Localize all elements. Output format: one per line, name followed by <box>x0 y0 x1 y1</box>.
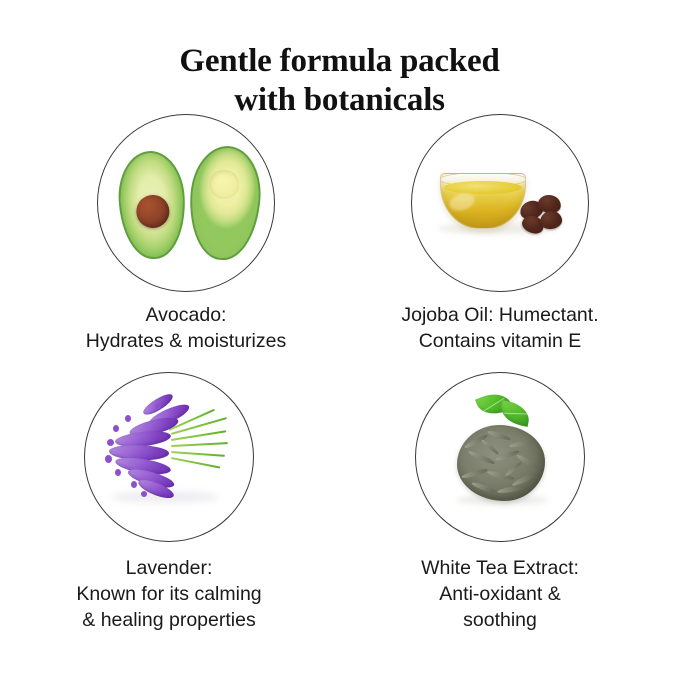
dried-tea-curl <box>487 429 511 441</box>
jojoba-oil-caption-line-2: Contains vitamin E <box>345 329 655 355</box>
avocado-icon <box>98 115 274 291</box>
jojoba-oil-caption-line-1: Jojoba Oil: Humectant. <box>345 303 655 329</box>
dried-tea-leaves-pile <box>457 425 545 501</box>
dried-tea-curl <box>497 485 524 495</box>
avocado-pit <box>136 194 171 229</box>
avocado-half-without-pit <box>186 144 264 263</box>
jojoba-oil-caption: Jojoba Oil: Humectant. Contains vitamin … <box>345 303 655 355</box>
avocado-caption-line-1: Avocado: <box>31 303 341 329</box>
lavender-stem <box>171 451 225 457</box>
jojoba-oil-surface <box>444 181 522 194</box>
ingredient-item-jojoba-oil: Jojoba Oil: Humectant. Contains vitamin … <box>345 114 655 355</box>
jojoba-bowl-highlight <box>447 190 477 213</box>
lavender-bud <box>107 439 114 446</box>
jojoba-oil-circle-frame <box>411 114 589 292</box>
white-tea-circle-frame <box>415 372 585 542</box>
jojoba-seed <box>539 210 563 231</box>
lavender-bud <box>125 415 131 422</box>
lavender-caption-line-2: Known for its calming <box>14 582 324 608</box>
fresh-tea-leaf <box>498 400 532 427</box>
avocado-caption-line-2: Hydrates & moisturizes <box>31 329 341 355</box>
lavender-bud <box>155 403 161 409</box>
lavender-icon <box>85 373 253 541</box>
lavender-bud <box>113 425 119 432</box>
lavender-caption-line-1: Lavender: <box>14 556 324 582</box>
lavender-caption-line-3: & healing properties <box>14 608 324 634</box>
avocado-caption: Avocado: Hydrates & moisturizes <box>31 303 341 355</box>
lavender-bud <box>131 481 137 488</box>
white-tea-extract-icon <box>416 373 584 541</box>
ingredient-item-white-tea-extract: White Tea Extract: Anti-oxidant & soothi… <box>345 372 655 634</box>
tea-leaf-vein <box>504 413 527 415</box>
lavender-bud <box>141 491 147 497</box>
dried-tea-curl <box>511 472 537 488</box>
dried-tea-curl <box>461 467 488 479</box>
lavender-circle-frame <box>84 372 254 542</box>
dried-tea-curl <box>509 438 536 449</box>
ingredient-item-lavender: Lavender: Known for its calming & healin… <box>14 372 324 634</box>
lavender-bud <box>105 455 112 463</box>
page-title-line-1: Gentle formula packed <box>0 42 679 81</box>
white-tea-caption-line-2: Anti-oxidant & <box>345 582 655 608</box>
dried-tea-curl <box>480 438 499 455</box>
lavender-bud <box>115 469 121 476</box>
lavender-stem <box>171 442 228 447</box>
avocado-circle-frame <box>97 114 275 292</box>
jojoba-oil-icon <box>412 115 588 291</box>
avocado-half-with-pit <box>116 149 188 260</box>
white-tea-caption-line-1: White Tea Extract: <box>345 556 655 582</box>
dried-tea-curl <box>467 449 496 465</box>
botanicals-infographic: Gentle formula packed with botanicals Av… <box>0 0 679 679</box>
lavender-caption: Lavender: Known for its calming & healin… <box>14 556 324 634</box>
dried-tea-curl <box>471 481 496 494</box>
jojoba-oil-bowl <box>440 173 526 229</box>
white-tea-caption-line-3: soothing <box>345 608 655 634</box>
avocado-pit-socket <box>208 169 240 200</box>
page-title: Gentle formula packed with botanicals <box>0 42 679 120</box>
ingredient-item-avocado: Avocado: Hydrates & moisturizes <box>31 114 341 355</box>
white-tea-caption: White Tea Extract: Anti-oxidant & soothi… <box>345 556 655 634</box>
lavender-stem <box>171 457 221 469</box>
dried-tea-curl <box>504 461 523 478</box>
